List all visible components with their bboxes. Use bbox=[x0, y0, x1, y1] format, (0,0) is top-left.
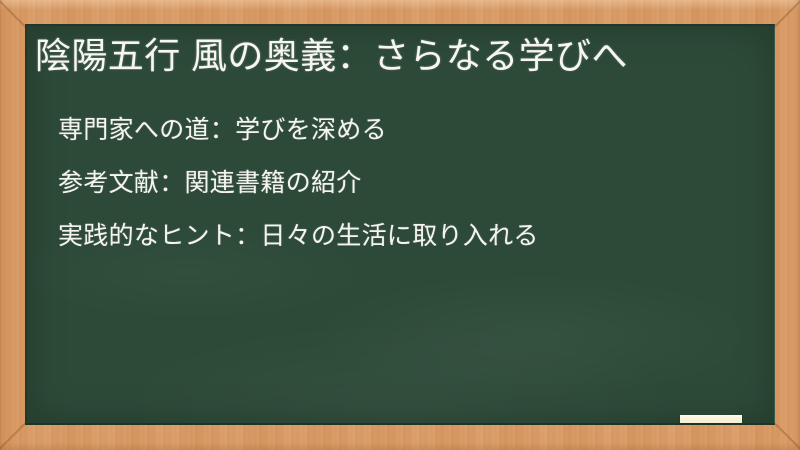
frame-bottom-shadow bbox=[0, 442, 800, 450]
chalkboard-surface: 陰陽五行 風の奥義：さらなる学びへ 専門家への道：学びを深める 参考文献：関連書… bbox=[25, 24, 775, 425]
frame-right-edge bbox=[794, 0, 800, 450]
bullet-item-3: 実践的なヒント：日々の生活に取り入れる bbox=[58, 210, 762, 263]
bullet-item-1: 専門家への道：学びを深める bbox=[58, 104, 762, 157]
slide-bullet-list: 専門家への道：学びを深める 参考文献：関連書籍の紹介 実践的なヒント：日々の生活… bbox=[58, 104, 762, 263]
chalkboard-slide: 陰陽五行 風の奥義：さらなる学びへ 専門家への道：学びを深める 参考文献：関連書… bbox=[0, 0, 800, 450]
frame-left-edge bbox=[0, 0, 4, 450]
chalk-stick-icon bbox=[680, 415, 742, 425]
bullet-item-2: 参考文献：関連書籍の紹介 bbox=[58, 157, 762, 210]
frame-top-highlight bbox=[0, 0, 800, 10]
slide-title: 陰陽五行 風の奥義：さらなる学びへ bbox=[35, 30, 764, 82]
